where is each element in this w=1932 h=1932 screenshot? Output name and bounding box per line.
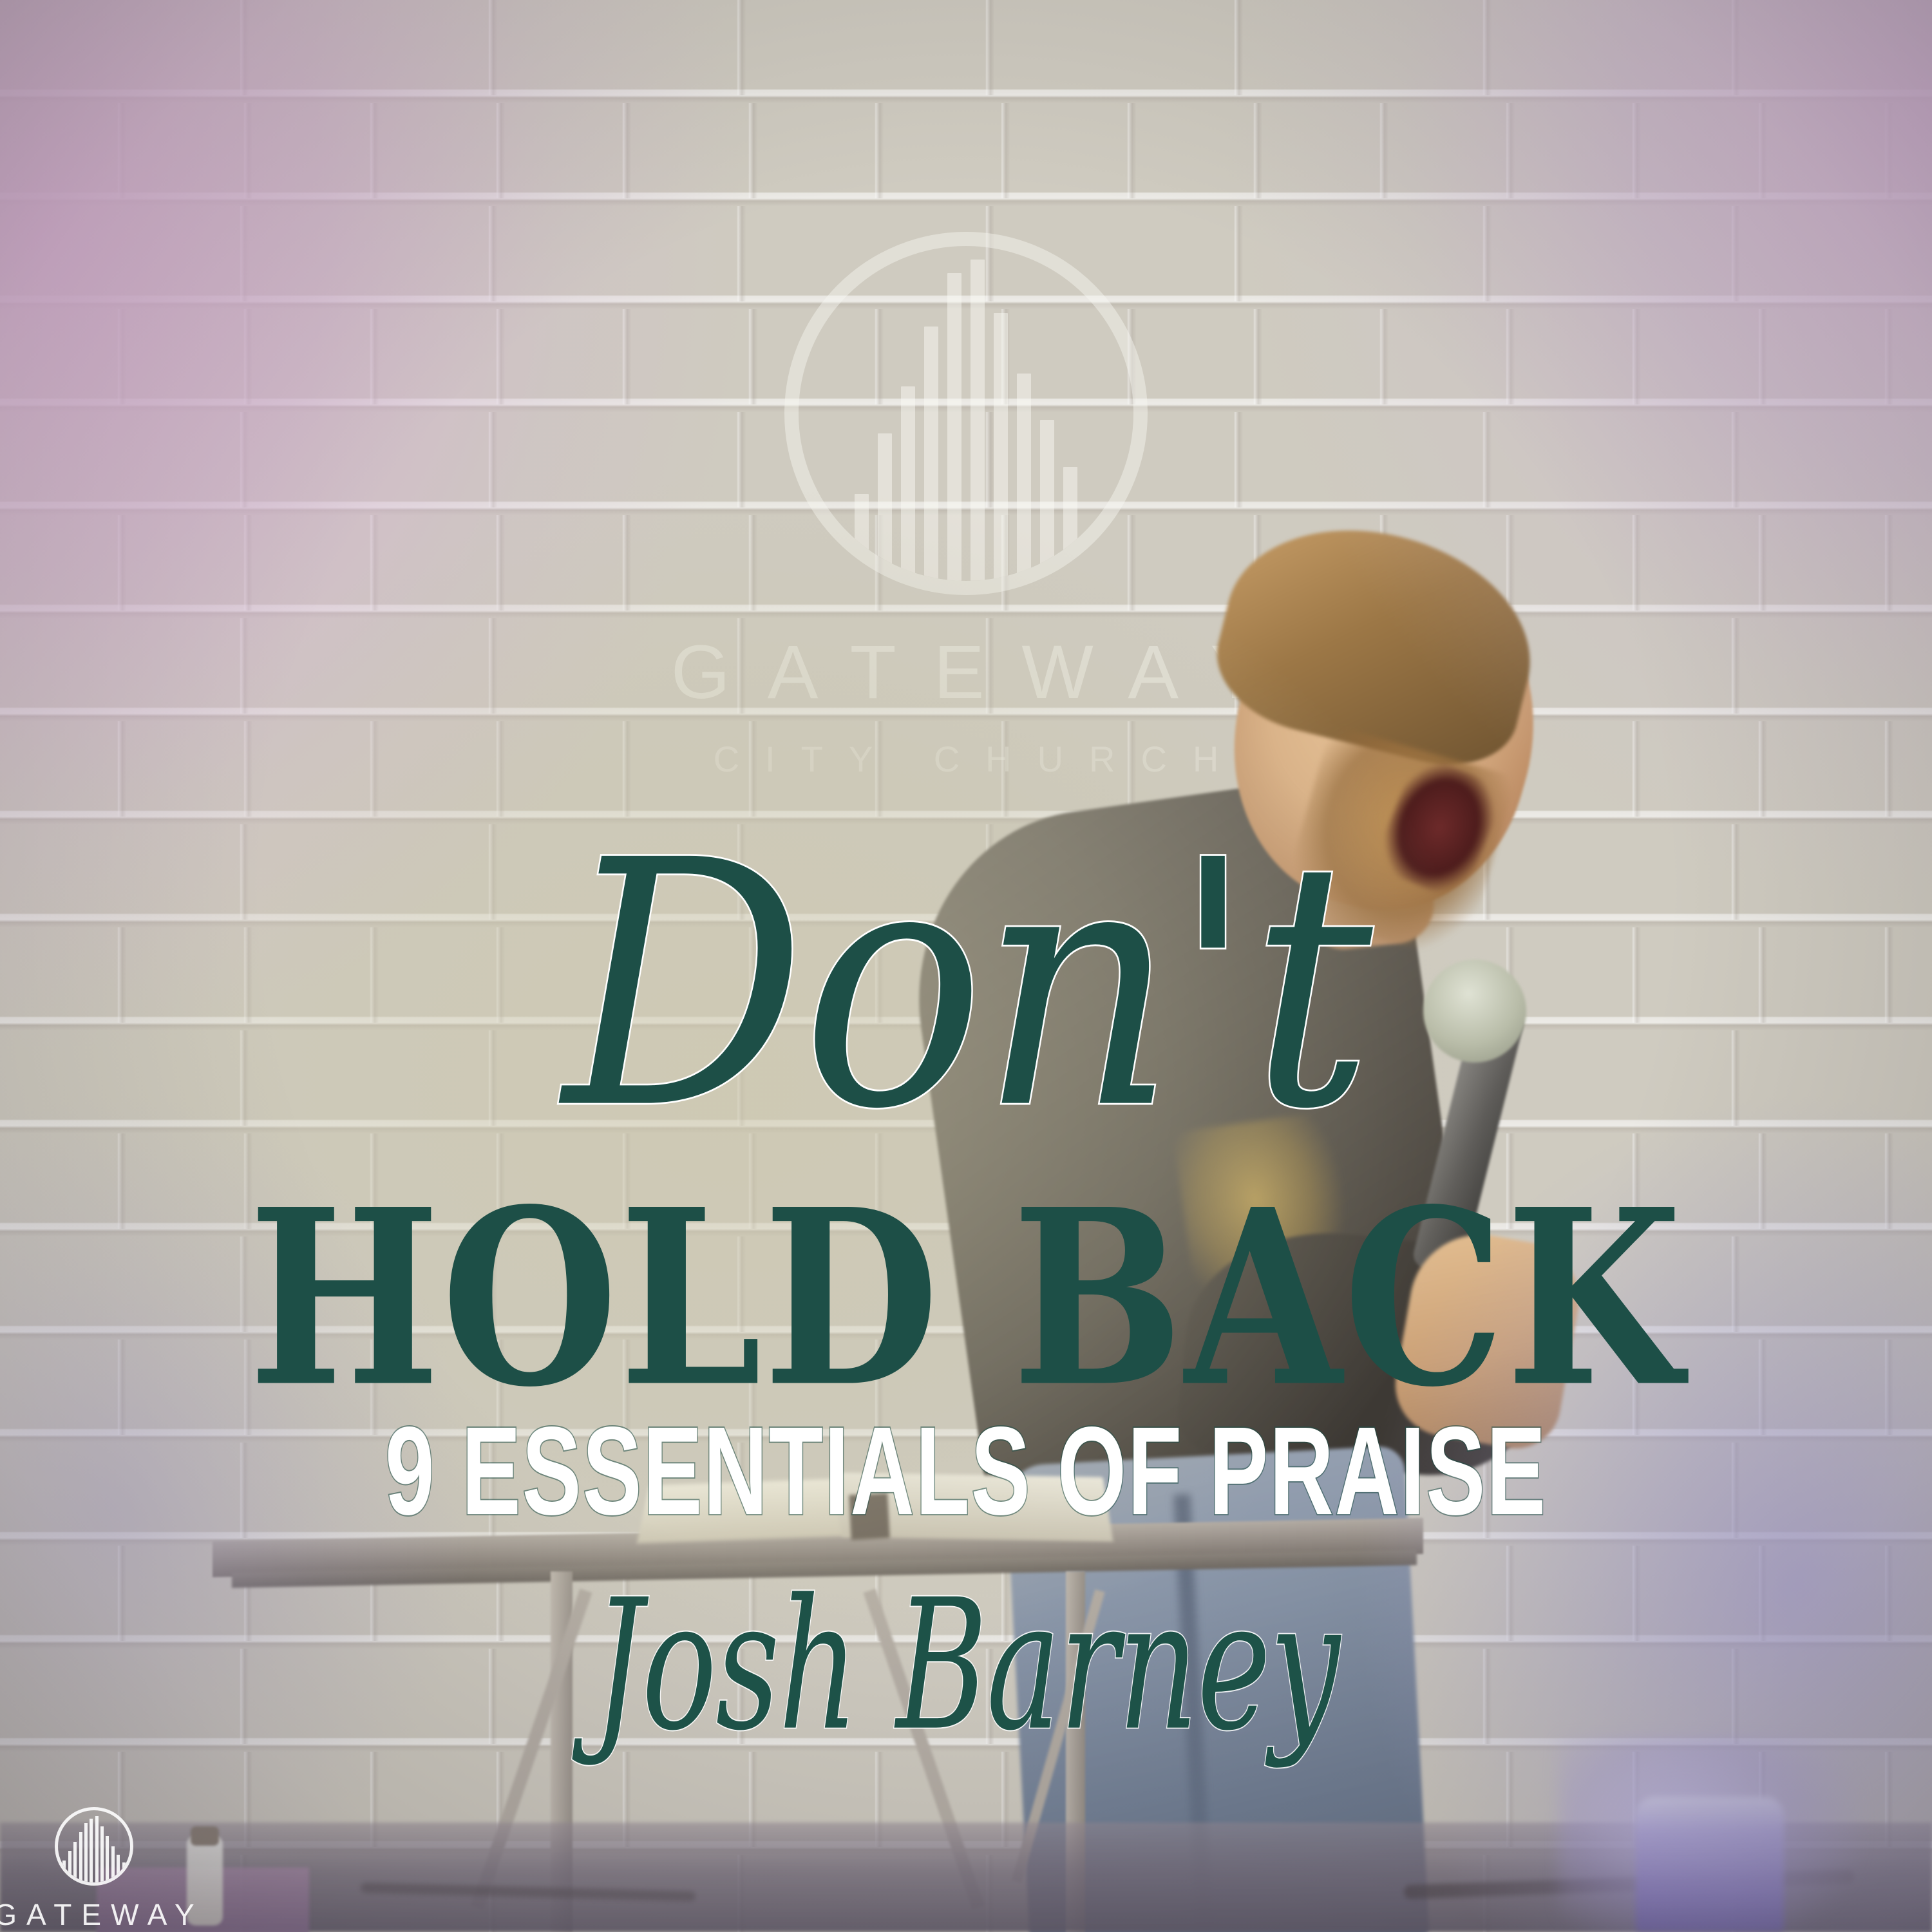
emblem-bar — [100, 1826, 104, 1882]
emblem-bar — [95, 1816, 99, 1882]
speaker-name: Josh Barney — [97, 1575, 1835, 1756]
headline-hold-back: HOLD BACK — [10, 1182, 1922, 1414]
emblem-bar — [84, 1823, 88, 1882]
emblem-bar — [90, 1819, 93, 1882]
title-overlay: Don't HOLD BACK 9 ESSENTIALS OF PRAISE J… — [0, 0, 1932, 1932]
emblem-bar — [122, 1862, 126, 1882]
emblem-bar — [111, 1846, 115, 1882]
emblem-bar — [73, 1842, 77, 1882]
emblem-bar — [79, 1832, 82, 1882]
emblem-bar — [106, 1836, 109, 1882]
corner-logo-name: GATEWAY — [0, 1897, 204, 1932]
emblem-bar — [117, 1855, 120, 1882]
gateway-circle-bars-emblem-small — [55, 1807, 133, 1886]
title-card: GATEWAY CITY CHURCH Don't — [0, 0, 1932, 1932]
corner-gateway-logo: GATEWAY CITY CHURCH CLOVIS — [10, 1807, 178, 1932]
emblem-bar — [62, 1861, 66, 1882]
script-word-dont: Don't — [0, 817, 1932, 1155]
subtitle-essentials: 9 ESSENTIALS OF PRAISE — [77, 1408, 1855, 1533]
emblem-bar — [68, 1851, 71, 1882]
emblem-bars-small — [62, 1810, 125, 1882]
